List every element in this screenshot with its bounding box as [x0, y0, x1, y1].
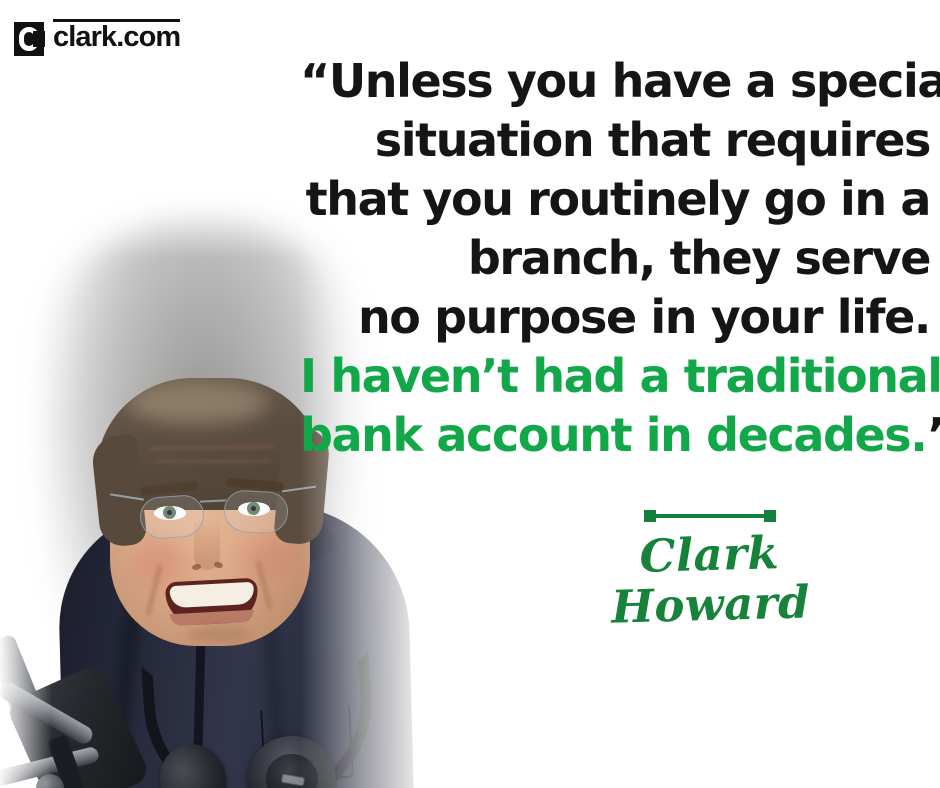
c-monogram-icon: [14, 22, 44, 56]
chin-shadow: [186, 626, 250, 642]
logo-wordmark-wrap: clark.com: [53, 19, 180, 53]
logo-wordmark: clark.com: [53, 23, 180, 53]
quote-line: “Unless you have a special: [300, 52, 930, 111]
quote-graphic: clark.com: [0, 0, 940, 788]
quote-line: that you routinely go in a: [300, 170, 930, 229]
divider-cap-right: [764, 510, 776, 522]
attribution-block: Clark Howard: [540, 508, 880, 629]
forehead-crease: [154, 460, 270, 463]
brand-logo[interactable]: clark.com: [14, 19, 180, 59]
attribution-name: Clark Howard: [539, 526, 881, 634]
quote-text: “Unless you have a special situation tha…: [300, 52, 930, 465]
quote-line: situation that requires: [300, 111, 930, 170]
divider-bar: [650, 514, 770, 518]
quote-line: no purpose in your life.: [300, 288, 930, 347]
closing-quote-mark: ”: [926, 408, 940, 462]
photo-edge-fade: [0, 188, 52, 788]
hair-highlight: [128, 382, 268, 424]
quote-line-highlight: I haven’t had a traditional: [300, 347, 930, 406]
quote-line: branch, they serve: [300, 229, 930, 288]
quote-line-highlight-text: bank account in decades.: [300, 408, 926, 462]
eyeglass-lens-right: [223, 489, 289, 534]
quote-line-highlight: bank account in decades.”: [300, 406, 930, 465]
decorative-divider: [644, 508, 776, 524]
